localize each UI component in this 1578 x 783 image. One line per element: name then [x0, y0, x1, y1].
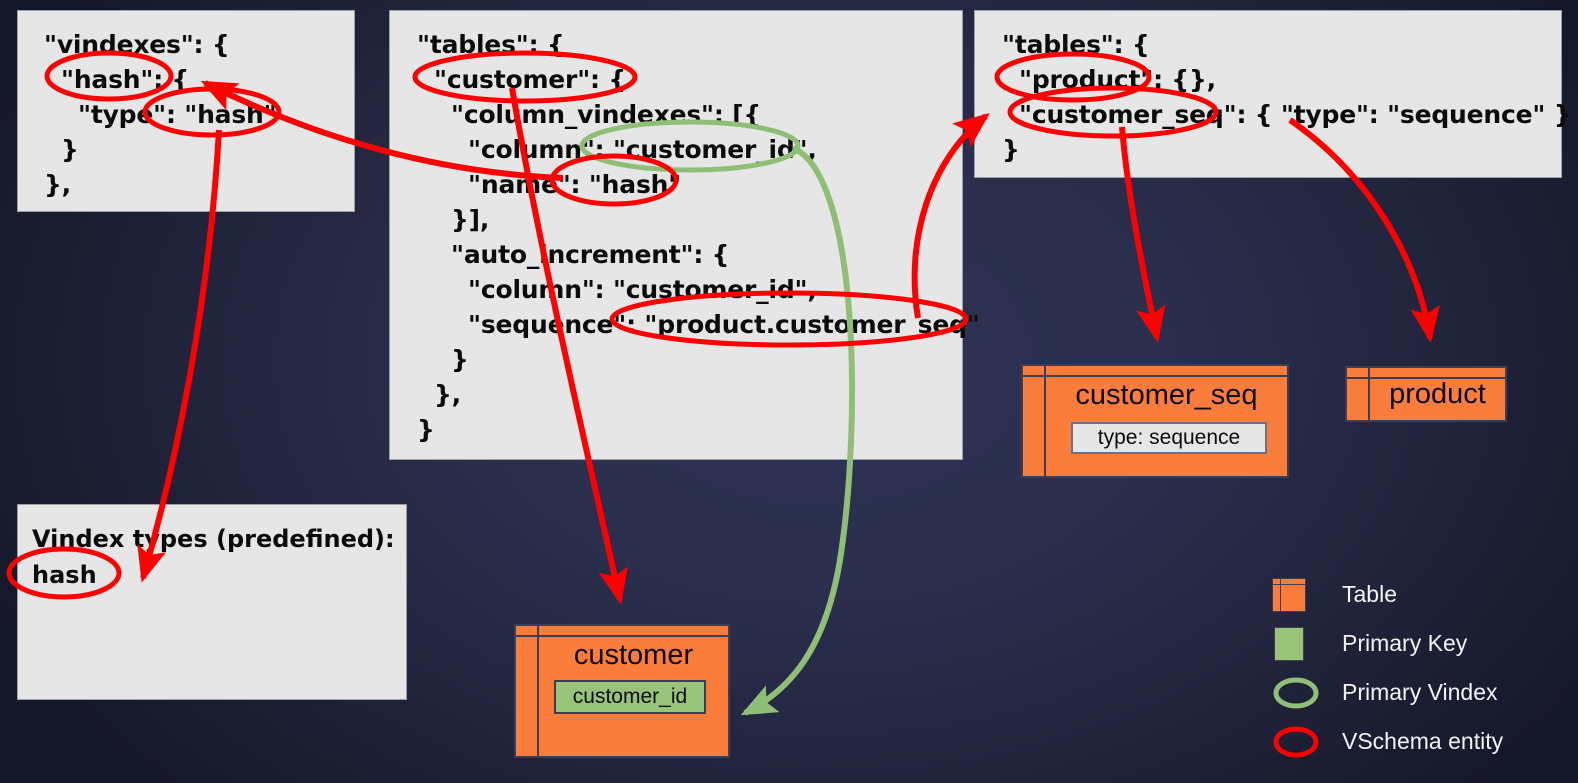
diagram-canvas: "vindexes": { "hash": { "type": "hash" }…: [0, 0, 1578, 783]
table-header-strip: [1023, 366, 1287, 377]
tables-product-panel-code: "tables": { "product": {}, "customer_seq…: [1002, 27, 1571, 167]
legend-item-vschema-entity: VSchema entity: [1272, 717, 1503, 766]
table-customer: customer customer_id: [514, 624, 730, 758]
legend-label-primary-key: Primary Key: [1342, 630, 1467, 657]
primary-key-swatch-icon: [1272, 627, 1334, 661]
table-side-strip: [1347, 368, 1370, 420]
legend-label-table: Table: [1342, 581, 1397, 608]
vindex-type-item-hash: hash: [32, 557, 97, 593]
table-customer-seq-attribute-type: type: sequence: [1071, 422, 1267, 454]
legend: Table Primary Key Primary Vindex VSchema…: [1272, 570, 1503, 766]
table-header-strip: [516, 626, 728, 637]
table-customer-name: customer: [539, 639, 728, 672]
table-customer-column-customer_id: customer_id: [554, 680, 706, 714]
legend-item-primary-vindex: Primary Vindex: [1272, 668, 1503, 717]
vindexes-panel-code: "vindexes": { "hash": { "type": "hash" }…: [44, 27, 276, 202]
table-side-strip: [516, 626, 539, 756]
legend-item-primary-key: Primary Key: [1272, 619, 1503, 668]
legend-label-vschema-entity: VSchema entity: [1342, 728, 1503, 755]
table-swatch-icon: [1272, 578, 1334, 612]
tables-customer-panel-code: "tables": { "customer": { "column_vindex…: [417, 27, 980, 447]
legend-item-table: Table: [1272, 570, 1503, 619]
table-customer-seq: customer_seq type: sequence: [1021, 364, 1289, 478]
table-product-name: product: [1370, 378, 1505, 411]
table-customer-seq-name: customer_seq: [1046, 379, 1287, 412]
primary-vindex-ellipse-icon: [1272, 676, 1334, 710]
table-product: product: [1345, 366, 1507, 422]
table-side-strip: [1023, 366, 1046, 476]
vindex-types-title: Vindex types (predefined):: [32, 521, 395, 557]
legend-label-primary-vindex: Primary Vindex: [1342, 679, 1498, 706]
vschema-entity-ellipse-icon: [1272, 725, 1334, 759]
